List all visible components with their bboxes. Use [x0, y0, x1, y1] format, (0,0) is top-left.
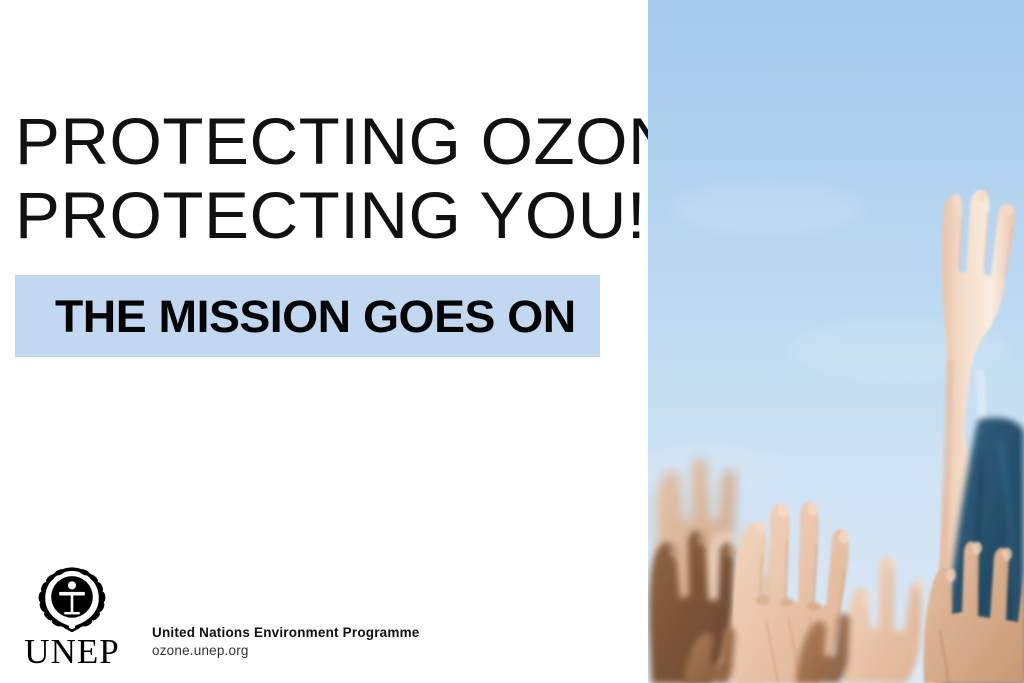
footer: UNEP United Nations Environment Programm…	[26, 563, 420, 669]
tagline-text: THE MISSION GOES ON	[55, 294, 576, 339]
headline: PROTECTING OZONE PROTECTING YOU!	[15, 104, 635, 252]
unep-wordmark: UNEP	[24, 635, 119, 669]
unep-logo: UNEP	[26, 563, 118, 669]
website-url[interactable]: ozone.unep.org	[152, 642, 420, 660]
organisation-name: United Nations Environment Programme	[152, 624, 420, 642]
unep-laurel-emblem-icon	[33, 563, 111, 637]
left-text-panel: PROTECTING OZONE PROTECTING YOU! THE MIS…	[0, 0, 648, 683]
headline-line-2: PROTECTING YOU!	[15, 178, 647, 252]
headline-line-1: PROTECTING OZONE	[15, 104, 647, 178]
footer-text-block: United Nations Environment Programme ozo…	[152, 624, 420, 669]
hands-raised-photo	[648, 0, 1024, 683]
ozone-day-poster: PROTECTING OZONE PROTECTING YOU! THE MIS…	[0, 0, 1024, 683]
photo-illustration	[648, 0, 1024, 683]
tagline-band: THE MISSION GOES ON	[15, 275, 600, 357]
